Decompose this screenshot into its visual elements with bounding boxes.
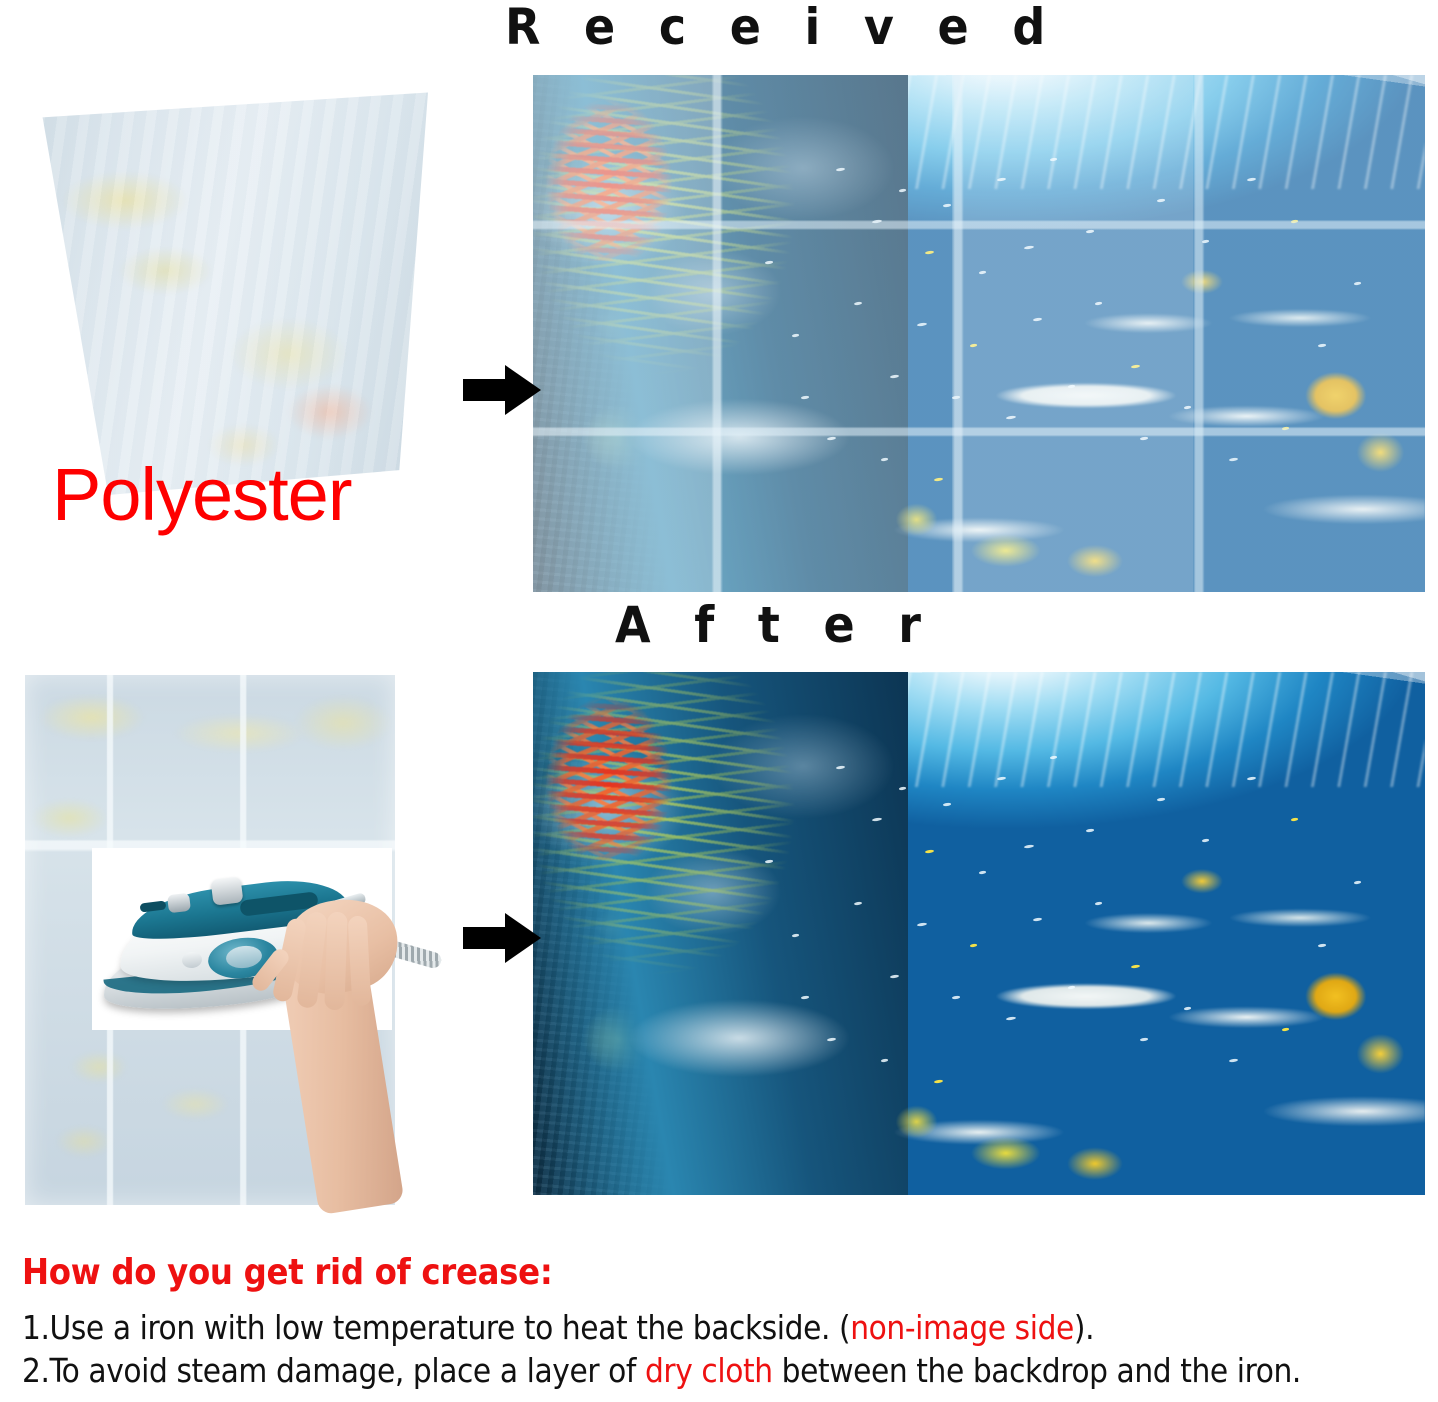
fish (1032, 317, 1041, 321)
fish (1318, 943, 1326, 947)
fish (925, 250, 934, 254)
arrow-shaft (463, 379, 511, 401)
fish (765, 860, 773, 864)
fish (899, 787, 906, 790)
fish (800, 996, 808, 1000)
fish (800, 395, 808, 399)
fish (827, 1037, 836, 1041)
iron-steam-button (167, 893, 191, 914)
instruction-1-pre: 1.Use a iron with low temperature to hea… (22, 1308, 850, 1347)
fish (872, 219, 882, 223)
fish (1032, 917, 1041, 921)
arrow-head (505, 913, 541, 963)
fish (1050, 755, 1057, 758)
fish (1353, 281, 1360, 284)
fish (979, 870, 986, 873)
fish (1157, 199, 1165, 203)
fish (943, 802, 951, 806)
fish (792, 933, 799, 936)
instruction-line-1: 1.Use a iron with low temperature to hea… (22, 1306, 1422, 1350)
hand-and-forearm (256, 900, 476, 1210)
fish-school (533, 672, 1425, 1195)
fish (1291, 818, 1298, 821)
fish (1050, 157, 1057, 160)
fish (872, 818, 882, 822)
instruction-2-post: between the backdrop and the iron. (773, 1351, 1301, 1390)
instruction-2-pre: 2.To avoid steam damage, place a layer o… (22, 1351, 645, 1390)
fish (854, 302, 862, 306)
fish (881, 457, 888, 460)
instructions-heading: How do you get rid of crease: (22, 1254, 1422, 1292)
fish (997, 776, 1006, 780)
page-title-received: R e c e i v e d (505, 2, 1059, 52)
fish (765, 261, 773, 265)
fish (881, 1059, 888, 1062)
fish (1095, 302, 1102, 305)
fish (1023, 245, 1033, 249)
fish (1130, 364, 1139, 368)
fish (1229, 457, 1238, 461)
fish (925, 849, 934, 853)
fish (1246, 776, 1255, 780)
fish (943, 204, 951, 208)
received-backdrop-image (533, 75, 1425, 592)
fish (952, 996, 960, 1000)
fish (827, 436, 836, 440)
fish (970, 343, 977, 346)
fish (1095, 902, 1102, 905)
fish (916, 322, 926, 326)
fish (1086, 230, 1094, 234)
fish (934, 1079, 943, 1083)
fish (1086, 828, 1094, 832)
fish (1006, 1016, 1016, 1020)
care-instructions-block: How do you get rid of crease: 1.Use a ir… (22, 1254, 1422, 1393)
fish (952, 395, 960, 399)
fish (1246, 178, 1255, 182)
fish (899, 188, 906, 191)
after-backdrop-image (533, 672, 1425, 1195)
fish (916, 922, 926, 926)
fish (1006, 416, 1016, 420)
instruction-1-highlight: non-image side (850, 1308, 1074, 1347)
instruction-line-2: 2.To avoid steam damage, place a layer o… (22, 1349, 1422, 1393)
fish (890, 975, 899, 979)
fish (1282, 1027, 1289, 1030)
page-title-after: A f t e r (615, 600, 935, 650)
folded-sheet-surface (18, 80, 428, 495)
folded-polyester-sheet-image (18, 80, 428, 495)
fish (1157, 797, 1165, 801)
fish (1318, 343, 1326, 347)
fish (970, 943, 977, 946)
fish (854, 902, 862, 906)
fish (1184, 1006, 1191, 1009)
fish (1291, 219, 1298, 222)
arrow-head (505, 365, 541, 415)
fish (1068, 385, 1075, 388)
fish (1139, 436, 1147, 440)
fish (792, 333, 799, 336)
fish (1202, 240, 1209, 243)
fish (1023, 844, 1033, 848)
fish (1184, 405, 1191, 408)
fish (979, 271, 986, 274)
fish (890, 374, 899, 378)
fish-school (533, 75, 1425, 592)
fish (1202, 839, 1209, 842)
fish (997, 178, 1006, 182)
fish (1353, 881, 1360, 884)
fish (836, 766, 845, 770)
finger-ring (324, 912, 347, 1011)
fish (1282, 426, 1289, 429)
iron-knob (211, 876, 244, 905)
fish (934, 478, 943, 482)
fish (1139, 1038, 1147, 1042)
instruction-2-highlight: dry cloth (645, 1351, 773, 1390)
fish (836, 167, 845, 171)
fish (1068, 985, 1075, 988)
fish (1229, 1058, 1238, 1062)
polyester-material-label: Polyester (52, 458, 351, 532)
right-arrow-icon (463, 365, 543, 415)
instruction-1-post: ). (1074, 1308, 1094, 1347)
fish (1130, 964, 1139, 968)
